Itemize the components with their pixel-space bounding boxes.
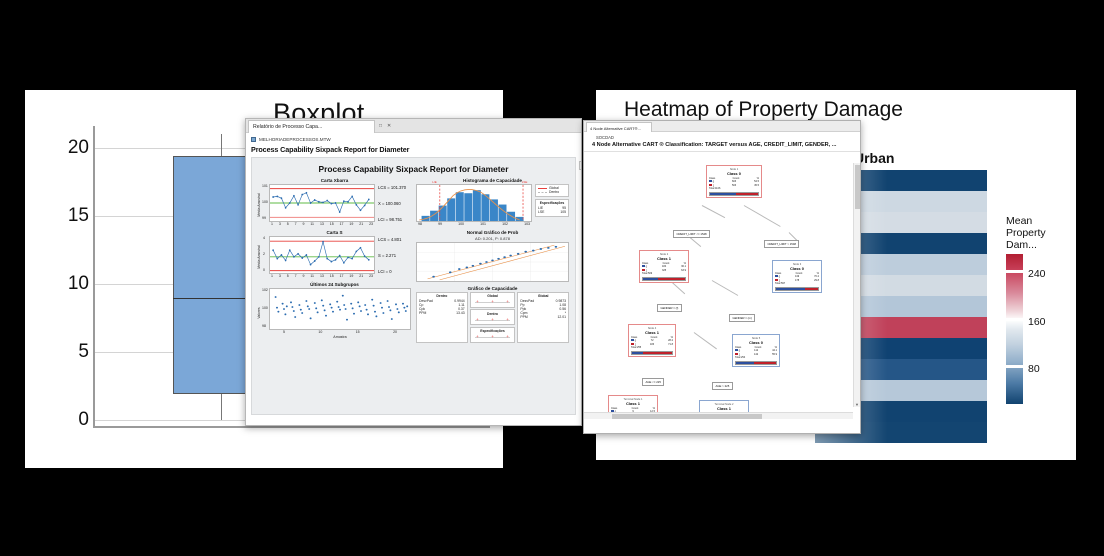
tab-process-capability[interactable]: Relatório de Processo Capa...: [248, 120, 375, 133]
row-count: 72: [651, 339, 654, 342]
split-condition[interactable]: AGE > 225: [712, 382, 733, 390]
capability-markers: Global +++ Dentro +++ Especificações: [470, 292, 516, 343]
x-axis-tick: 19: [349, 222, 353, 226]
x-axis-tick: 5: [287, 222, 289, 226]
split-condition[interactable]: GENDER = (m): [729, 314, 755, 322]
y-axis-tick: 0: [78, 409, 89, 431]
row-pct: 44.1: [772, 349, 777, 352]
x-axis-tick: 9: [303, 274, 305, 278]
spec-key: LSE: [538, 210, 544, 214]
chart-plot-area: [269, 236, 375, 274]
node-class: Class 1: [611, 401, 655, 406]
overall-title: Global: [520, 294, 566, 298]
cart-window[interactable]: 4 Node Alternative CART®... SOCDAD 4 Nod…: [583, 120, 861, 434]
x-axis-tick: 7: [295, 222, 297, 226]
x-axis-tick: 23: [369, 274, 373, 278]
s-limit-labels: LCS = 4.801 S = 2.271 LCI = 0: [375, 236, 411, 278]
x-axis-tick: 102: [502, 222, 508, 226]
limit-label-ucl: LCS = 101.370: [378, 185, 406, 190]
chart-title: Carta S: [258, 230, 411, 235]
chart-title: Gráfico de Capacidade: [416, 286, 569, 291]
row-count: 503: [732, 184, 736, 187]
tree-node[interactable]: Node 5 Class 0 Class Count % 0 112 44.1 …: [732, 334, 780, 367]
overall-stats-table: Global DesvPad0.9873 Pp1.08 Ppk0.56 Cpm*…: [517, 292, 569, 343]
x-axis-tick: 11: [310, 222, 314, 226]
stat-value: 13.43: [456, 311, 465, 315]
row-pct: 36.1: [681, 265, 686, 268]
limit-label-center: X = 100.060: [378, 201, 401, 206]
stat-key: PPM: [419, 311, 426, 315]
chart-plot-area: [416, 184, 532, 222]
tree-node[interactable]: Node 1 Class 0 Class Count % 0 603 54.5 …: [706, 165, 762, 198]
marker-specs: Especificações +++: [470, 327, 516, 343]
y-axis-tick: 2: [263, 252, 265, 256]
y-axis-label: Média Amostral: [257, 245, 261, 268]
colorbar-tick: 240: [1028, 268, 1046, 280]
node-class: Class 1: [642, 256, 686, 261]
scrollbar-thumb[interactable]: [855, 165, 860, 209]
row-count: 142: [754, 353, 758, 356]
marker-label: Especificações: [473, 329, 513, 333]
worksheet-row[interactable]: MELHORIADEPROCESSOS.MTW: [251, 137, 576, 142]
row-pct: 54.5: [754, 180, 759, 183]
whisker-upper: [221, 134, 222, 156]
row-count: 419: [795, 275, 799, 278]
chart-subtitle: AD: 0.201, P: 0.878: [416, 236, 569, 241]
colorbar-tick: 160: [1028, 316, 1046, 328]
stat-value: 12.01: [558, 315, 567, 319]
x-axis-tick: 5: [287, 274, 289, 278]
node-class: Class 1: [702, 406, 746, 411]
row-pct: 55.9: [772, 353, 777, 356]
y-axis-tick: 100: [262, 200, 268, 204]
colorbar-divider: [1006, 270, 1023, 273]
row-pct: 28.2: [668, 339, 673, 342]
node-total: Total 254: [735, 356, 777, 359]
x-axis-tick: 10: [318, 330, 322, 334]
x-axis-label: Amostra: [269, 335, 411, 339]
chart-title: Últimos 24 Subgrupos: [258, 282, 411, 287]
sixpack-left-column: Carta Xbarra Média Amostral 101 100 99: [258, 178, 411, 343]
horizontal-scrollbar[interactable]: [584, 412, 853, 419]
cart-tree-canvas[interactable]: Node 1 Class 0 Class Count % 0 603 54.5 …: [584, 151, 860, 419]
x-axis-tick: 99: [438, 222, 442, 226]
x-axis-tick: 101: [480, 222, 486, 226]
heatmap-legend: Mean Property Dam... 240 160 80: [1006, 215, 1076, 404]
y-axis-tick: 4: [263, 236, 265, 240]
stat-key: PPM: [520, 315, 527, 319]
cart-header: SOCDAD 4 Node Alternative CART ® Classif…: [584, 132, 860, 149]
chart-title: Normal Gráfico de Prob: [416, 230, 569, 235]
legend-item-within: Dentro: [549, 190, 559, 194]
row-count: 112: [754, 349, 758, 352]
x-axis-ticks: 98 99 100 101 102 103: [416, 222, 532, 226]
tab-label: Relatório de Processo Capa...: [253, 124, 322, 130]
node-class: Class 1: [631, 330, 673, 335]
y-axis-tick: 102: [262, 288, 268, 292]
report-title: Process Capability Sixpack Report for Di…: [258, 164, 569, 174]
node-bar: [631, 351, 673, 355]
close-icon[interactable]: ✕: [387, 123, 391, 129]
chart-plot-area: [416, 242, 569, 282]
worksheet-name: MELHORIADEPROCESSOS.MTW: [259, 137, 331, 142]
x-axis-tick: 15: [330, 222, 334, 226]
sixpack-grid: Carta Xbarra Média Amostral 101 100 99: [258, 178, 569, 343]
spec-value: 105: [560, 210, 566, 214]
normal-prob-plot: Normal Gráfico de Prob AD: 0.201, P: 0.8…: [416, 230, 569, 282]
node-class: Class 0: [735, 340, 777, 345]
node-class: Class 0: [775, 266, 819, 271]
marker-label: Global: [473, 294, 513, 298]
subgroups-chart: Últimos 24 Subgrupos Valores 102 100 98: [258, 282, 411, 339]
colorbar: 240 160 80: [1006, 254, 1023, 404]
x-axis-tick: 3: [279, 222, 281, 226]
row-pct: 71.8: [668, 343, 673, 346]
row-pct: 29.8: [814, 279, 819, 282]
capability-plot: Gráfico de Capacidade Dentro DesvPad0.99…: [416, 286, 569, 343]
node-table: Class Count % 0 419 70.2 1 178 29.8 T: [775, 272, 819, 286]
row-count: 603: [732, 180, 736, 183]
node-table: Class Count % 0 184 36.1 1 325 63.9 T: [642, 262, 686, 276]
y-axis-tick: 15: [68, 205, 89, 227]
x-axis-tick: 1: [271, 274, 273, 278]
row-pct: 70.2: [814, 275, 819, 278]
minitab-window[interactable]: Relatório de Processo Capa... □ ✕ MELHOR…: [245, 118, 582, 426]
x-axis-tick: 5: [283, 330, 285, 334]
node-total: Total 1106: [709, 187, 759, 190]
section-label: SOCDAD: [592, 135, 854, 140]
collapse-icon[interactable]: ▾: [579, 161, 582, 170]
node-total: Total 509: [642, 272, 686, 275]
minitab-tabstrip: Relatório de Processo Capa... □ ✕: [246, 119, 581, 133]
x-axis-tick: 9: [303, 222, 305, 226]
minitab-body: MELHORIADEPROCESSOS.MTW Process Capabili…: [246, 133, 581, 425]
chart-title: Histograma de Capacidade: [416, 178, 569, 183]
y-axis-tick: 100: [262, 306, 268, 310]
tree-edge: [744, 205, 781, 227]
y-axis-label: Média Amostral: [257, 193, 261, 216]
split-condition[interactable]: GENDER = (f): [657, 304, 682, 312]
x-axis: [93, 426, 490, 428]
scrollbar-thumb[interactable]: [612, 414, 762, 419]
row-count: 178: [795, 279, 799, 282]
x-axis-ticks: 1 3 5 7 9 11 13 15 17: [269, 274, 375, 278]
row-pct: 63.9: [681, 269, 686, 272]
chart-plot-area: [269, 288, 411, 330]
x-axis-tick: 1: [271, 222, 273, 226]
node-bar: [642, 277, 686, 281]
restore-icon[interactable]: □: [379, 123, 382, 129]
y-axis-tick: 99: [262, 216, 266, 220]
x-axis-tick: 13: [320, 222, 324, 226]
legend-title-line2: Property Dam...: [1006, 227, 1076, 251]
tree-edge: [694, 332, 717, 349]
xbar-chart: Carta Xbarra Média Amostral 101 100 99: [258, 178, 411, 226]
split-condition[interactable]: CREDIT_LIMIT <= 1548: [673, 230, 710, 238]
node-total: Total 255: [631, 346, 673, 349]
chart-title: Carta Xbarra: [258, 178, 411, 183]
colorbar-tick: 80: [1028, 363, 1040, 375]
tab-label: 4 Node Alternative CART®...: [590, 126, 641, 131]
y-axis-tick: 20: [68, 137, 89, 159]
chart-plot-area: [269, 184, 375, 222]
node-table: Class Count % 0 72 28.2 1 183 71.8 To: [631, 336, 673, 350]
limit-label-center: S = 2.271: [378, 253, 396, 258]
tab-cart-classification[interactable]: 4 Node Alternative CART®...: [586, 122, 652, 132]
marker-global: Global +++: [470, 292, 516, 308]
whisker-lower: [221, 393, 222, 420]
x-axis-tick: 21: [359, 274, 363, 278]
xbar-limit-labels: LCS = 101.370 X = 100.060 LCI = 98.751: [375, 184, 411, 226]
curve-legend: Global Dentro: [535, 184, 569, 197]
tree-node[interactable]: Node 4 Class 1 Class Count % 0 72 28.2 1: [628, 324, 676, 357]
s-chart: Carta S Média Amostral 4 2 0: [258, 230, 411, 278]
x-axis-tick: 100: [458, 222, 464, 226]
limit-label-lcl: LCI = 0: [378, 269, 392, 274]
tree-node[interactable]: Node 2 Class 1 Class Count % 0 184 36.1 …: [639, 250, 689, 283]
x-axis-tick: 98: [418, 222, 422, 226]
colorbar-divider: [1006, 365, 1023, 368]
screenshot-stage: Boxplot 20 15 10 5 0 1 2 Heatmap of Prop…: [0, 0, 1104, 556]
vertical-scrollbar[interactable]: ▲ ▼: [853, 163, 860, 407]
node-class: Class 0: [709, 171, 759, 176]
split-condition[interactable]: CREDIT_LIMIT > 1548: [764, 240, 799, 248]
report-heading: Process Capability Sixpack Report for Di…: [251, 145, 576, 154]
node-bar: [775, 287, 819, 291]
y-axis-label: Valores: [257, 307, 261, 318]
x-axis-ticks: 1 3 5 7 9 11 13 15 17: [269, 222, 375, 226]
histogram-legend: Global Dentro Especificações: [535, 184, 569, 226]
y-axis-tick: 0: [263, 268, 265, 272]
x-axis-tick: 7: [295, 274, 297, 278]
row-count: 325: [662, 269, 666, 272]
limit-label-lcl: LCI = 98.751: [378, 217, 402, 222]
x-axis-tick: 23: [369, 222, 373, 226]
cart-tabstrip: 4 Node Alternative CART®...: [584, 121, 860, 132]
colorbar-divider: [1006, 318, 1023, 321]
node-total: Total 597: [775, 282, 819, 285]
y-axis: [93, 126, 95, 428]
x-axis-tick: 17: [340, 274, 344, 278]
heatmap-title: Heatmap of Property Damage: [624, 98, 903, 122]
x-axis-tick: 19: [349, 274, 353, 278]
cart-title: 4 Node Alternative CART ® Classification…: [592, 142, 854, 148]
tree-edge: [702, 205, 725, 218]
row-pct: 45.5: [754, 184, 759, 187]
node-bar: [735, 361, 777, 365]
marker-label: Dentro: [473, 312, 513, 316]
worksheet-icon: [251, 137, 256, 142]
node-table: Class Count % 0 112 44.1 1 142 55.9 T: [735, 346, 777, 360]
sixpack-report: ▾ Process Capability Sixpack Report for …: [251, 157, 576, 415]
y-axis-tick: 98: [262, 324, 266, 328]
x-axis-ticks: 5 10 15 20: [269, 330, 411, 334]
y-axis-tick: 5: [78, 341, 89, 363]
x-axis-tick: 15: [356, 330, 360, 334]
split-condition[interactable]: AGE <= 225: [642, 378, 664, 386]
node-bar: [709, 192, 759, 196]
x-axis-tick: 21: [359, 222, 363, 226]
within-stats-table: Dentro DesvPad0.9944 Cp1.11 Cpk0.37 PPM1…: [416, 292, 468, 343]
marker-within: Dentro +++: [470, 309, 516, 325]
within-title: Dentro: [419, 294, 465, 298]
x-axis-tick: 17: [340, 222, 344, 226]
limit-label-ucl: LCS = 4.801: [378, 237, 401, 242]
legend-title-line1: Mean: [1006, 215, 1076, 227]
y-axis-tick: 10: [68, 273, 89, 295]
y-axis-tick: 101: [262, 184, 268, 188]
spec-legend-title: Especificações: [538, 201, 566, 205]
capability-histogram: Histograma de Capacidade LIE LSE: [416, 178, 569, 226]
row-count: 184: [662, 265, 666, 268]
spec-legend: Especificações LIE 95 LSE 105: [535, 199, 569, 217]
sixpack-right-column: Histograma de Capacidade LIE LSE: [416, 178, 569, 343]
x-axis-tick: 13: [320, 274, 324, 278]
row-count: 183: [650, 343, 654, 346]
x-axis-tick: 15: [330, 274, 334, 278]
scroll-down-icon[interactable]: ▼: [855, 402, 859, 407]
x-axis-tick: 3: [279, 274, 281, 278]
x-axis-tick: 11: [310, 274, 314, 278]
tree-node[interactable]: Node 3 Class 0 Class Count % 0 419 70.2 …: [772, 260, 822, 293]
tree-edge: [712, 280, 738, 296]
x-axis-tick: 20: [393, 330, 397, 334]
x-axis-tick: 103: [524, 222, 530, 226]
node-table: Class Count % 0 603 54.5 1 503 45.5 T: [709, 177, 759, 191]
